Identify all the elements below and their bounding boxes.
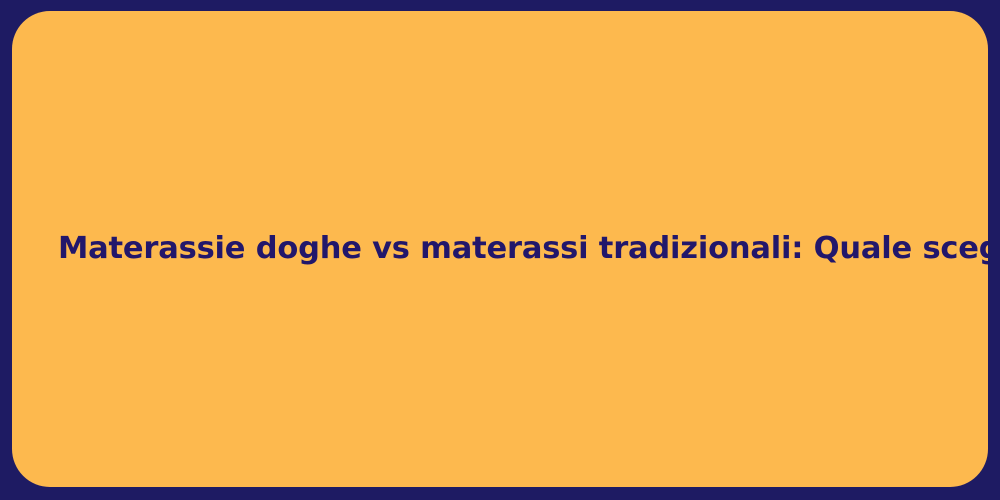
banner-frame: Materassie doghe vs materassi tradiziona… [0,0,1000,500]
banner-title: Materassie doghe vs materassi tradiziona… [12,231,988,267]
banner-card: Materassie doghe vs materassi tradiziona… [12,11,988,487]
